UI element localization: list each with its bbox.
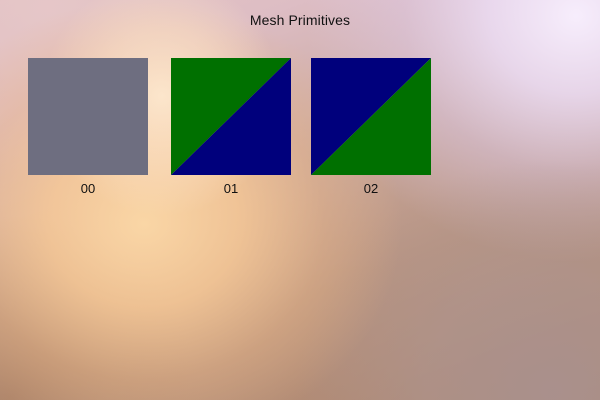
primitive-tile-00[interactable]: 00 xyxy=(28,58,148,175)
diagonal-split-quad-icon xyxy=(171,58,291,175)
primitive-list: 00 01 02 xyxy=(0,0,600,400)
diagonal-split-quad-icon xyxy=(311,58,431,175)
primitive-label-01: 01 xyxy=(151,181,311,196)
swatch-00[interactable] xyxy=(28,58,148,175)
solid-quad-icon xyxy=(28,58,148,175)
primitive-label-00: 00 xyxy=(8,181,168,196)
swatch-02[interactable] xyxy=(311,58,431,175)
primitive-tile-02[interactable]: 02 xyxy=(311,58,431,175)
swatch-01[interactable] xyxy=(171,58,291,175)
primitive-tile-01[interactable]: 01 xyxy=(171,58,291,175)
primitive-label-02: 02 xyxy=(291,181,451,196)
mesh-primitives-canvas: Mesh Primitives 00 01 xyxy=(0,0,600,400)
